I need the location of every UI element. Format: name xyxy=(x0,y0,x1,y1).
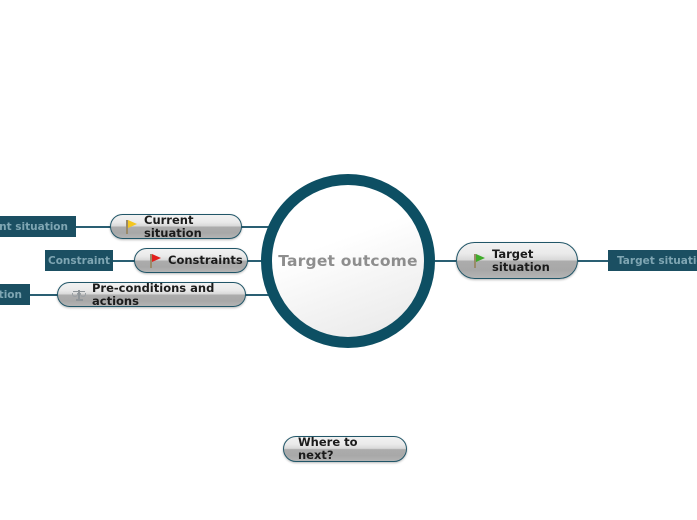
node-where-to-next-content: Where to next? xyxy=(284,436,406,462)
node-current-situation[interactable]: Current situation xyxy=(110,214,242,239)
connector-tag-to-preconditions xyxy=(30,294,58,296)
node-constraints[interactable]: Constraints xyxy=(134,248,248,273)
flag-green-icon xyxy=(473,254,486,268)
flag-yellow-icon xyxy=(125,220,138,234)
node-current-situation-label: Current situation xyxy=(144,214,227,240)
node-current-situation-content: Current situation xyxy=(111,214,241,240)
node-where-to-next-label: Where to next? xyxy=(298,436,392,462)
node-target-situation-label: Target situation xyxy=(492,248,550,274)
connector-target-situation-to-tag xyxy=(578,260,608,262)
node-where-to-next[interactable]: Where to next? xyxy=(283,436,407,462)
tag-current-situation-label: Current situation xyxy=(0,221,68,233)
scales-icon xyxy=(72,288,86,302)
node-target-situation[interactable]: Target situation xyxy=(456,242,578,279)
connector-current-situation-to-center xyxy=(241,226,269,228)
node-preconditions-label: Pre-conditions and actions xyxy=(92,282,231,308)
tag-precondition[interactable]: dition xyxy=(0,284,30,305)
node-preconditions-and-actions[interactable]: Pre-conditions and actions xyxy=(57,282,246,307)
node-constraints-label: Constraints xyxy=(168,254,243,267)
tag-target-situation-label: Target situation xyxy=(617,255,697,267)
connector-tag-to-current-situation xyxy=(76,226,112,228)
node-target-situation-content: Target situation xyxy=(457,248,577,274)
flag-red-icon xyxy=(149,254,162,268)
node-preconditions-content: Pre-conditions and actions xyxy=(58,282,245,308)
tag-constraint[interactable]: Constraint xyxy=(45,250,113,271)
tag-constraint-label: Constraint xyxy=(48,255,110,267)
node-constraints-content: Constraints xyxy=(135,254,257,268)
central-node-label: Target outcome xyxy=(278,252,418,270)
mindmap-canvas: Current situation Constraint dition Targ… xyxy=(0,0,697,520)
tag-precondition-label: dition xyxy=(0,289,22,301)
tag-target-situation[interactable]: Target situation xyxy=(608,250,697,271)
connector-center-to-target-situation xyxy=(435,260,456,262)
central-node-target-outcome[interactable]: Target outcome xyxy=(261,174,435,348)
tag-current-situation[interactable]: Current situation xyxy=(0,216,76,237)
